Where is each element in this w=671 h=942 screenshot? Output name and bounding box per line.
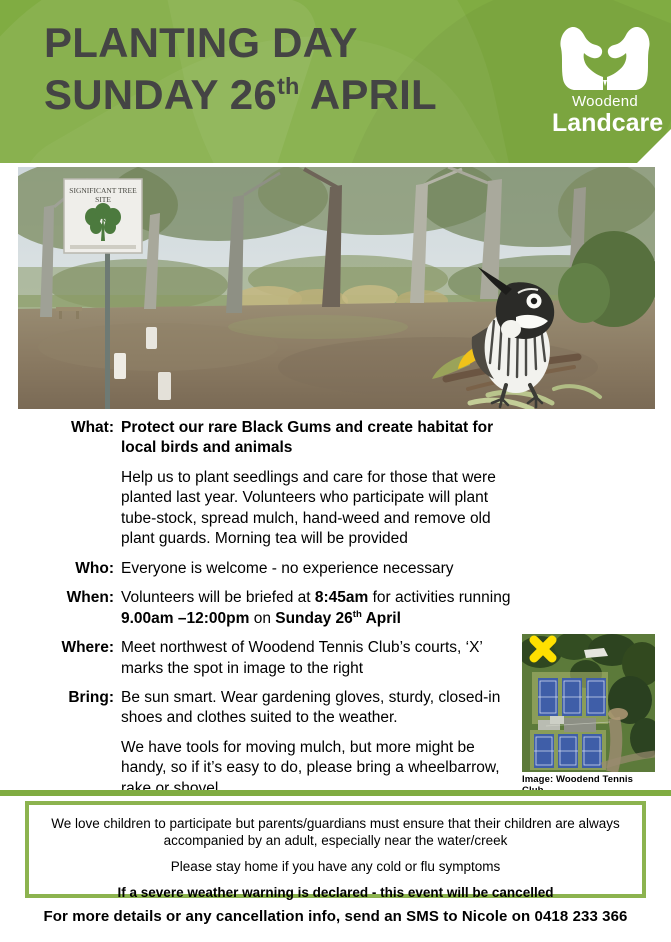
when-brief-time: 8:45am xyxy=(315,589,368,606)
notice-weather-cancellation: If a severe weather warning is declared … xyxy=(43,884,628,901)
title-date-pre: SUNDAY 26 xyxy=(44,71,277,118)
woodend-landcare-logo: Woodend Landcare xyxy=(552,18,658,136)
poster: PLANTING DAY SUNDAY 26th APRIL Woodend L… xyxy=(0,0,671,942)
detail-value-when: Volunteers will be briefed at 8:45am for… xyxy=(121,588,521,629)
detail-row-what: What: Protect our rare Black Gums and cr… xyxy=(18,418,655,459)
svg-text:SITE: SITE xyxy=(95,195,111,204)
logo-word-landcare: Landcare xyxy=(552,110,658,136)
when-date-ordinal: th xyxy=(353,608,362,619)
title-date-ordinal: th xyxy=(277,73,300,99)
tennis-club-aerial-image xyxy=(522,634,655,772)
detail-row-when: When: Volunteers will be briefed at 8:45… xyxy=(18,588,655,629)
page-title: PLANTING DAY SUNDAY 26th APRIL xyxy=(44,17,544,121)
notice-children-supervision: We love children to participate but pare… xyxy=(43,815,628,849)
title-line-1: PLANTING DAY xyxy=(44,17,544,69)
detail-value-who: Everyone is welcome - no experience nece… xyxy=(121,559,655,579)
notice-health: Please stay home if you have any cold or… xyxy=(43,858,628,875)
detail-value-bring: Be sun smart. Wear gardening gloves, stu… xyxy=(121,688,516,729)
aerial-map-inset: Image: Woodend Tennis Club xyxy=(522,634,655,796)
detail-label-where: Where: xyxy=(18,638,121,658)
when-activity-time: 9.00am –12:00pm xyxy=(121,610,249,627)
landcare-hands-australia-icon xyxy=(555,18,655,92)
detail-row-who: Who: Everyone is welcome - no experience… xyxy=(18,559,655,579)
when-plain-3: on xyxy=(249,610,275,627)
detail-label-when: When: xyxy=(18,588,121,608)
when-date-pre: Sunday 26 xyxy=(275,610,353,627)
detail-label-bring: Bring: xyxy=(18,688,121,708)
when-date-post: April xyxy=(362,610,401,627)
title-line-2: SUNDAY 26th APRIL xyxy=(44,69,544,121)
title-date-post: APRIL xyxy=(300,71,437,118)
svg-text:SIGNIFICANT TREE: SIGNIFICANT TREE xyxy=(69,186,137,195)
when-plain-2: for activities running xyxy=(368,589,510,606)
footer-contact: For more details or any cancellation inf… xyxy=(0,908,671,925)
when-date: Sunday 26th April xyxy=(275,610,401,627)
hero-photo: SIGNIFICANT TREE SITE xyxy=(18,167,655,409)
x-marker-icon xyxy=(534,640,552,658)
detail-label-who: Who: xyxy=(18,559,121,579)
detail-value-where: Meet northwest of Woodend Tennis Club’s … xyxy=(121,638,516,679)
hero-photo-illustration: SIGNIFICANT TREE SITE xyxy=(18,167,655,409)
when-plain-1: Volunteers will be briefed at xyxy=(121,589,315,606)
detail-value-what-description: Help us to plant seedlings and care for … xyxy=(114,468,521,550)
detail-value-what: Protect our rare Black Gums and create h… xyxy=(121,418,521,459)
green-divider-bar xyxy=(0,790,671,796)
detail-label-what: What: xyxy=(18,418,121,438)
notice-box: We love children to participate but pare… xyxy=(25,801,646,898)
logo-word-woodend: Woodend xyxy=(552,93,658,110)
